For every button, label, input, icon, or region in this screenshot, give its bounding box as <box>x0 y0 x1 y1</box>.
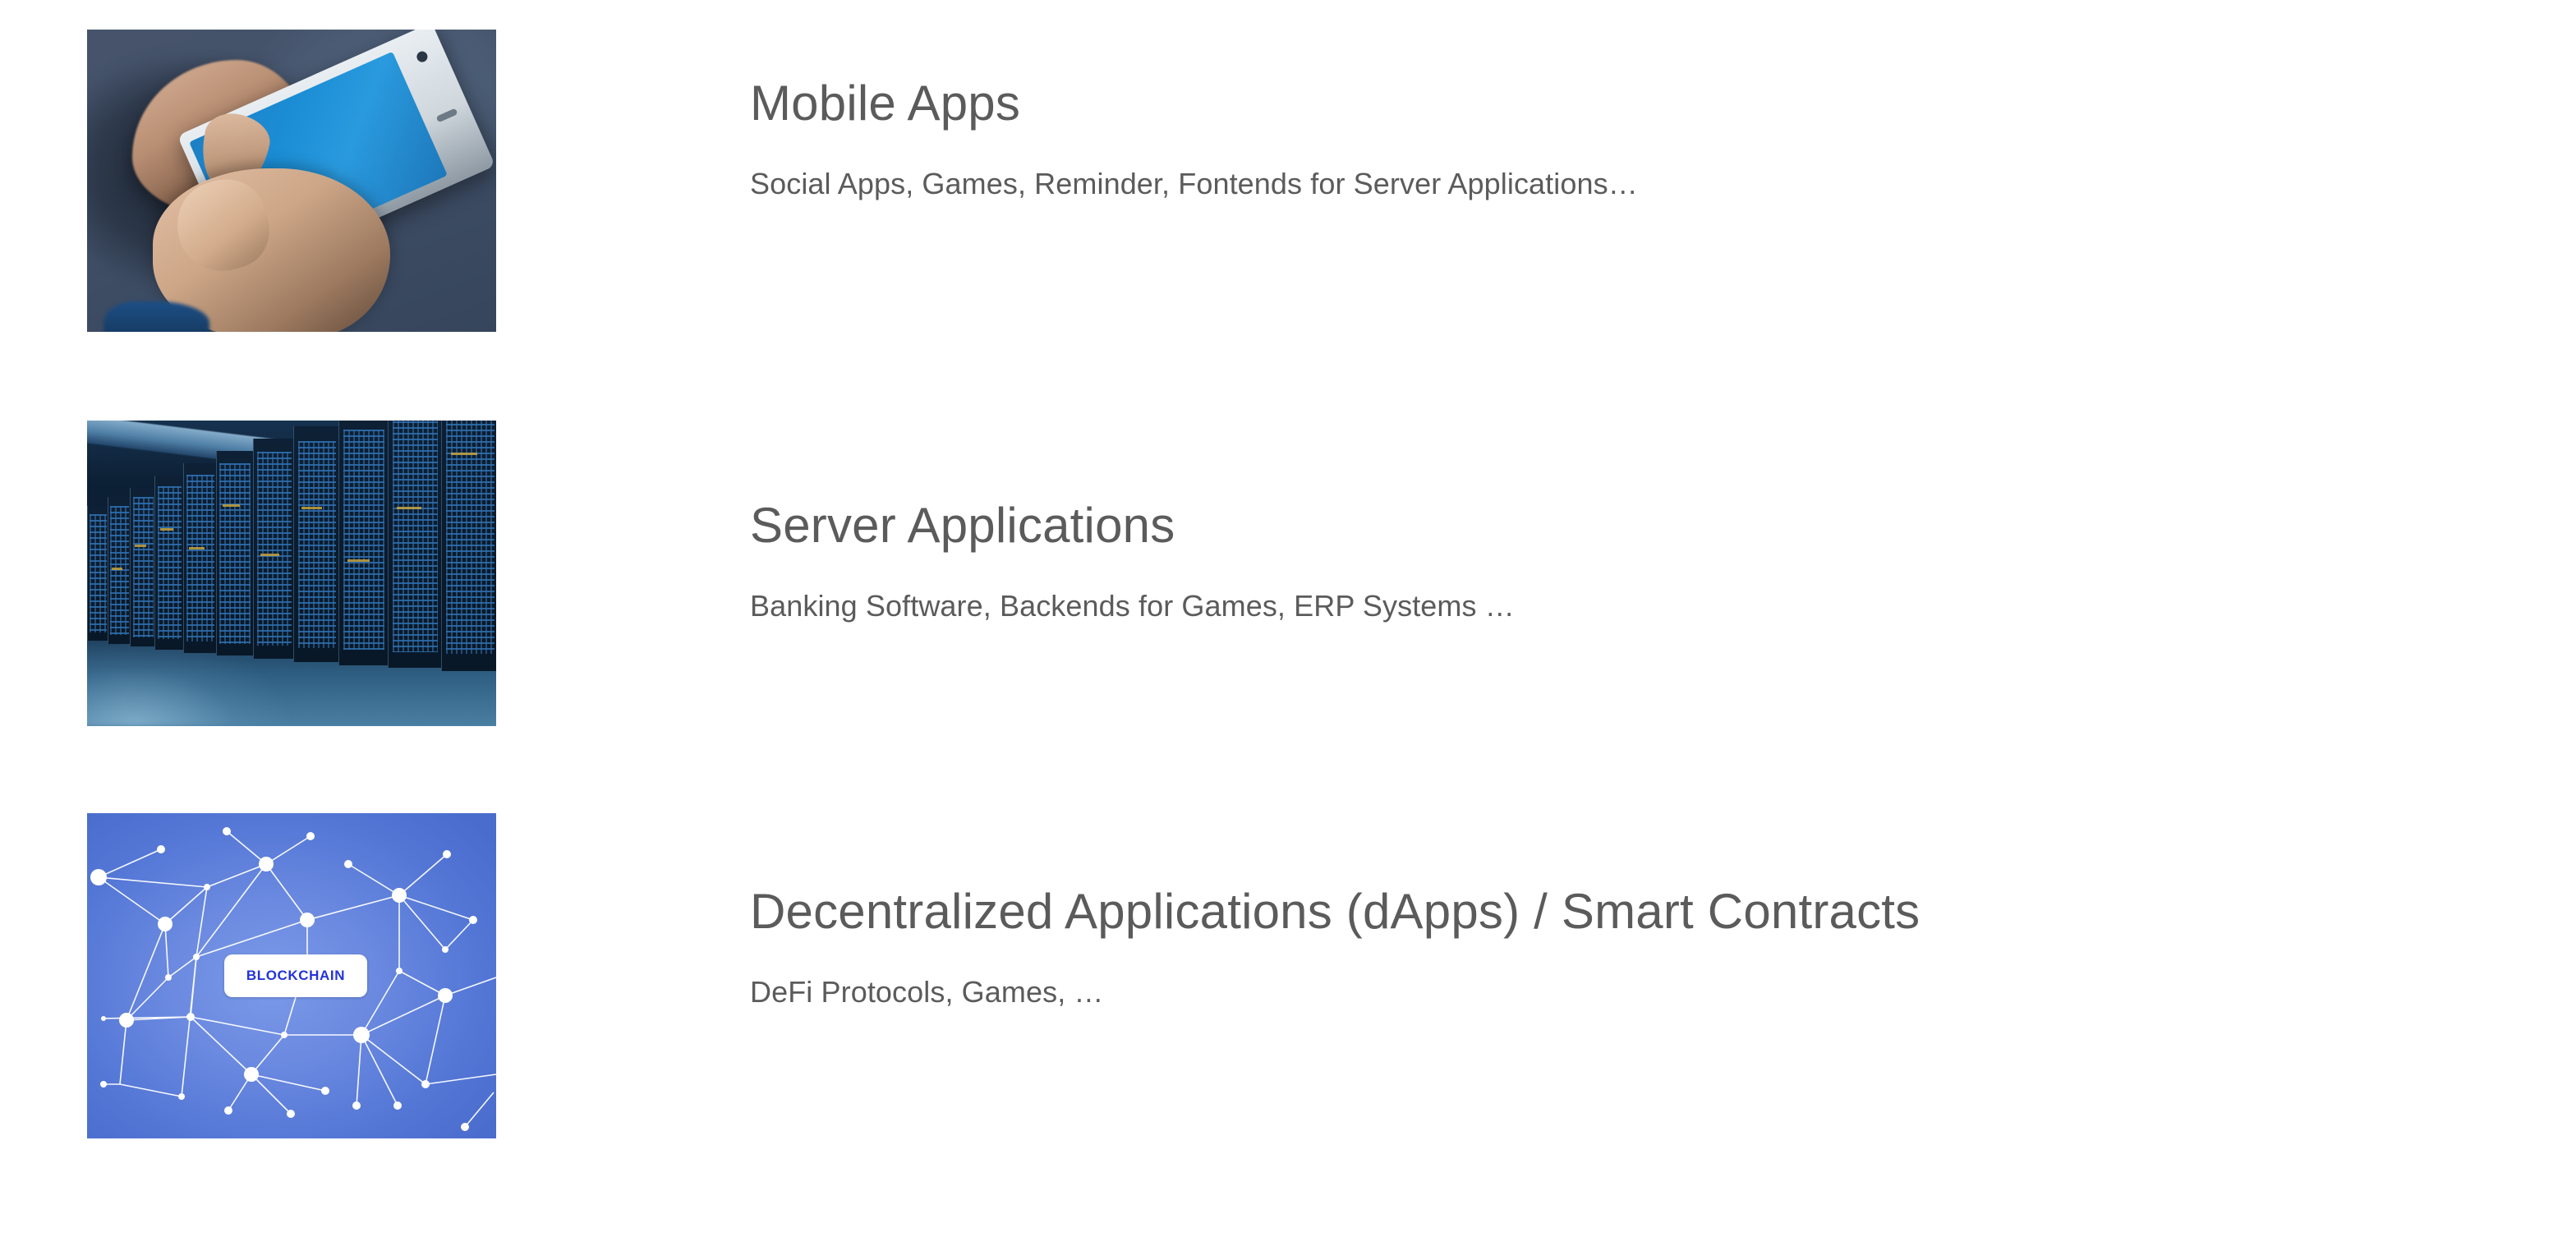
list-item[interactable]: Server Applications Banking Software, Ba… <box>0 391 2576 785</box>
list-item[interactable]: Mobile Apps Social Apps, Games, Reminder… <box>0 0 2576 386</box>
server-rack <box>388 421 443 668</box>
server-rack <box>108 497 131 644</box>
server-rack <box>441 421 496 671</box>
server-applications-photo[interactable] <box>87 421 496 726</box>
server-rack <box>338 421 389 665</box>
server-rack <box>154 476 185 650</box>
phone-camera-dot <box>416 49 430 63</box>
server-rack <box>87 506 109 641</box>
blockchain-network-graphic[interactable]: BLOCKCHAIN <box>87 813 496 1138</box>
item-heading: Server Applications <box>750 494 2491 557</box>
item-description: Banking Software, Backends for Games, ER… <box>750 586 2491 626</box>
item-text-column: Decentralized Applications (dApps) / Sma… <box>750 881 2491 1012</box>
item-description: Social Apps, Games, Reminder, Fontends f… <box>750 164 2491 204</box>
blockchain-label: BLOCKCHAIN <box>224 954 367 996</box>
item-text-column: Server Applications Banking Software, Ba… <box>750 494 2491 626</box>
server-rack <box>253 439 296 659</box>
item-description: DeFi Protocols, Games, … <box>750 973 2491 1012</box>
blockchain-label-text: BLOCKCHAIN <box>246 968 345 984</box>
server-applications-photo-image <box>87 421 496 726</box>
item-heading: Mobile Apps <box>750 72 2491 135</box>
item-heading: Decentralized Applications (dApps) / Sma… <box>750 881 2491 943</box>
content-list: Mobile Apps Social Apps, Games, Reminder… <box>0 0 2576 1237</box>
mobile-apps-photo-image <box>87 30 496 332</box>
item-text-column: Mobile Apps Social Apps, Games, Reminder… <box>750 72 2491 204</box>
server-rack <box>183 463 218 653</box>
server-rack <box>216 451 255 655</box>
list-item[interactable]: BLOCKCHAIN Decentralized Applications (d… <box>0 784 2576 1237</box>
mobile-apps-photo[interactable] <box>87 30 496 332</box>
phone-speaker-slot <box>436 108 458 122</box>
server-rack <box>293 426 340 661</box>
server-rack <box>130 488 156 646</box>
blockchain-network-image: BLOCKCHAIN <box>87 813 496 1138</box>
